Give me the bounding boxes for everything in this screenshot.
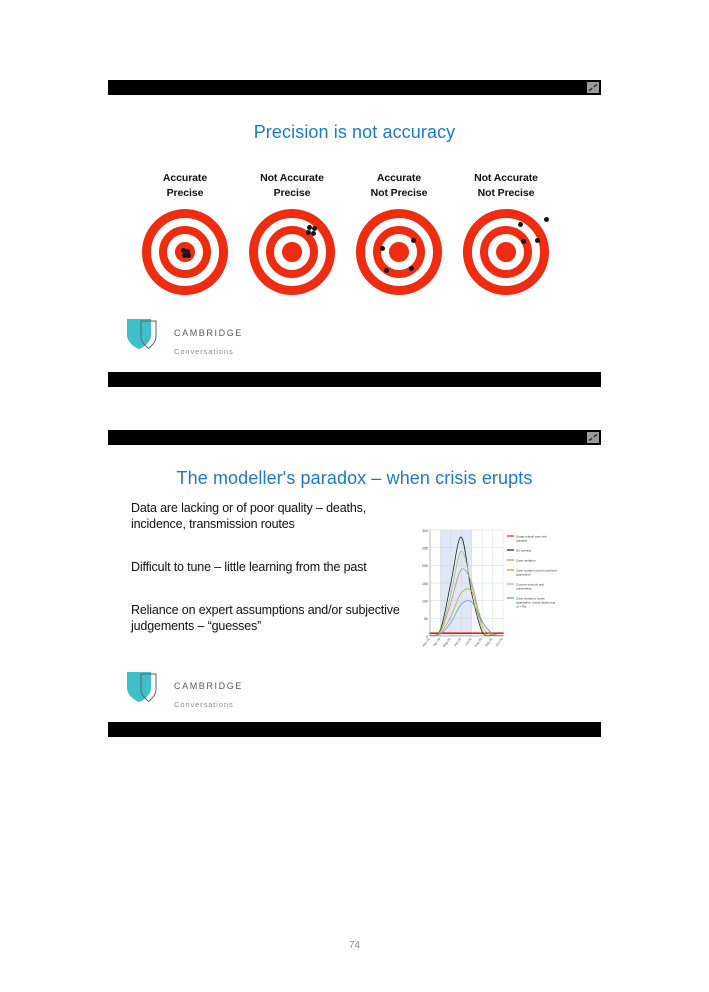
target-caption-2-line1: Not Accurate	[240, 171, 344, 186]
target-caption-4-line2: Not Precise	[454, 186, 558, 201]
target-caption-1: Accurate Precise	[133, 171, 237, 201]
shield-icon	[124, 670, 170, 704]
bullet-item: Reliance on expert assumptions and/or su…	[131, 602, 401, 634]
svg-text:quarantine: quarantine	[516, 572, 531, 576]
target-group-notaccurate-notprecise: Not Accurate Not Precise	[454, 171, 558, 295]
logo-wordmark: CAMBRIDGE Conversations	[174, 676, 243, 712]
target-icon-4	[463, 209, 549, 295]
svg-text:of >70s: of >70s	[516, 604, 527, 608]
target-group-accurate-precise: Accurate Precise	[133, 171, 237, 295]
expand-icon[interactable]	[587, 432, 599, 443]
svg-text:Case isolation: Case isolation	[516, 558, 536, 562]
document-page: Precision is not accuracy Accurate Preci…	[0, 0, 709, 992]
epidemic-curve-chart: 050100150200250300Mar-20Apr-20May-20Jun-…	[412, 526, 587, 658]
logo-line-2: Conversations	[174, 347, 234, 356]
slide-1-title: Precision is not accuracy	[108, 122, 601, 143]
slide-1-bottom-bar	[108, 372, 601, 387]
bullet-item: Data are lacking or of poor quality – de…	[131, 500, 401, 532]
svg-text:150: 150	[422, 582, 428, 586]
accuracy-precision-diagram: Accurate Precise Not Accurate Precise	[133, 171, 576, 301]
svg-text:Sep-20: Sep-20	[484, 637, 494, 648]
target-icon-1	[142, 209, 228, 295]
logo-line-2: Conversations	[174, 700, 234, 709]
logo-wordmark: CAMBRIDGE Conversations	[174, 323, 243, 359]
svg-text:universities: universities	[516, 586, 532, 590]
svg-text:Oct-20: Oct-20	[495, 637, 504, 647]
slide-1-top-bar	[108, 80, 601, 95]
target-caption-1-line1: Accurate	[133, 171, 237, 186]
slide-2-title: The modeller's paradox – when crisis eru…	[108, 468, 601, 489]
target-caption-3-line1: Accurate	[347, 171, 451, 186]
page-number: 74	[0, 940, 709, 951]
svg-text:May-20: May-20	[442, 637, 452, 648]
svg-text:Do nothing: Do nothing	[516, 548, 531, 552]
logo-line-1: CAMBRIDGE	[174, 681, 243, 691]
target-caption-3-line2: Not Precise	[347, 186, 451, 201]
slide-2-bullet-list: Data are lacking or of poor quality – de…	[131, 500, 401, 661]
svg-text:200: 200	[422, 564, 428, 568]
expand-icon[interactable]	[587, 82, 599, 93]
target-caption-2-line2: Precise	[240, 186, 344, 201]
slide-2-top-bar	[108, 430, 601, 445]
slide-2: The modeller's paradox – when crisis eru…	[108, 445, 601, 722]
target-caption-4-line1: Not Accurate	[454, 171, 558, 186]
svg-text:Apr-20: Apr-20	[432, 637, 441, 647]
target-group-notaccurate-precise: Not Accurate Precise	[240, 171, 344, 295]
logo-line-1: CAMBRIDGE	[174, 328, 243, 338]
cambridge-conversations-logo: CAMBRIDGE Conversations	[124, 670, 236, 704]
svg-text:300: 300	[422, 529, 428, 533]
svg-text:Aug-20: Aug-20	[473, 637, 483, 648]
target-caption-4: Not Accurate Not Precise	[454, 171, 558, 201]
target-caption-2: Not Accurate Precise	[240, 171, 344, 201]
svg-text:capacity: capacity	[516, 538, 528, 542]
svg-text:Mar-20: Mar-20	[421, 637, 431, 648]
svg-text:Jun-20: Jun-20	[453, 637, 462, 647]
cambridge-conversations-logo: CAMBRIDGE Conversations	[124, 317, 236, 351]
svg-text:Jul-20: Jul-20	[464, 637, 473, 646]
shield-icon	[124, 317, 170, 351]
target-icon-2	[249, 209, 335, 295]
svg-text:50: 50	[424, 617, 428, 621]
slide-2-bottom-bar	[108, 722, 601, 737]
svg-text:100: 100	[422, 599, 428, 603]
target-group-accurate-notprecise: Accurate Not Precise	[347, 171, 451, 295]
target-icon-3	[356, 209, 442, 295]
bullet-item: Difficult to tune – little learning from…	[131, 559, 401, 575]
target-caption-3: Accurate Not Precise	[347, 171, 451, 201]
target-caption-1-line2: Precise	[133, 186, 237, 201]
slide-1: Precision is not accuracy Accurate Preci…	[108, 95, 601, 372]
svg-text:250: 250	[422, 546, 428, 550]
